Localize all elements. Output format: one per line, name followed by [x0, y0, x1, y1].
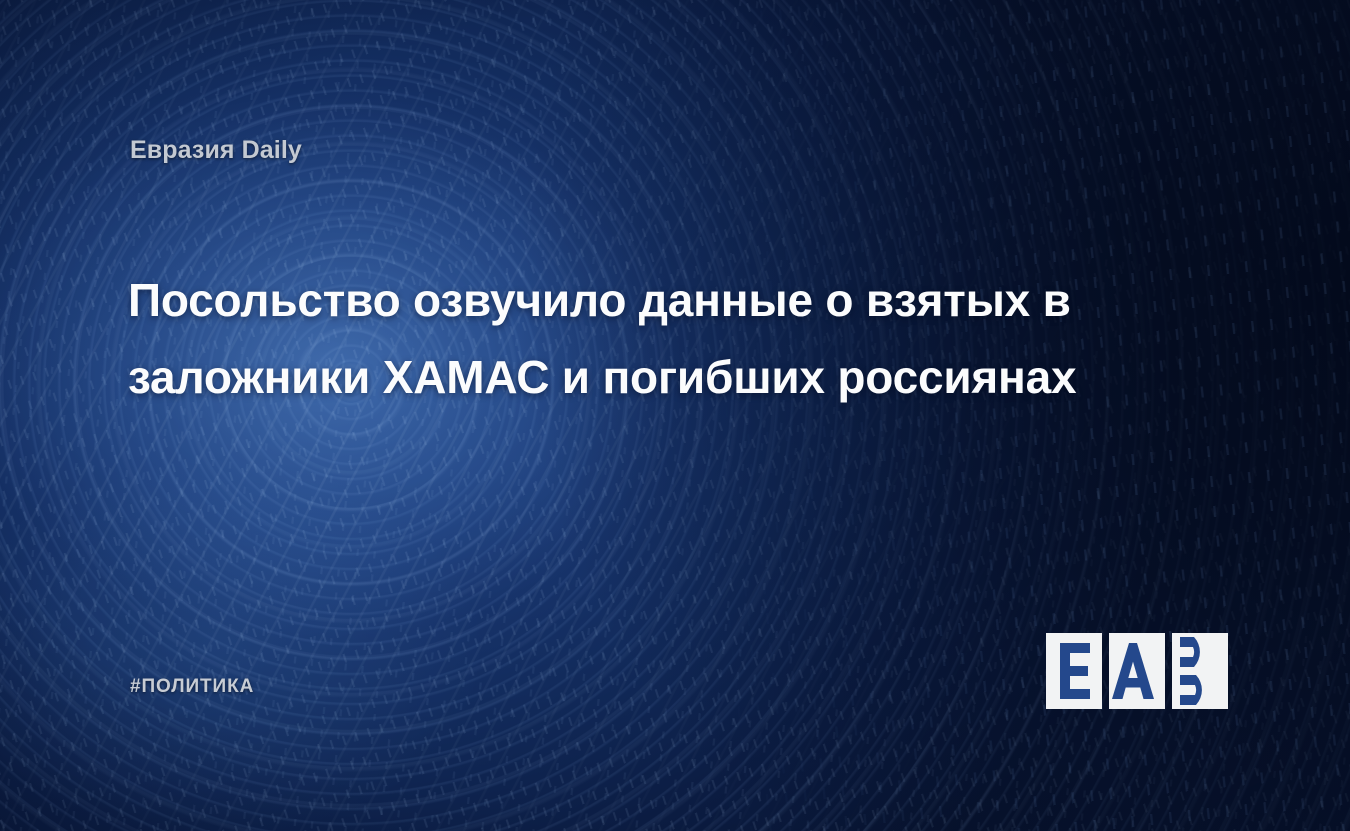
- eadaily-logo: [1046, 633, 1231, 709]
- site-name: Евразия Daily: [130, 136, 302, 165]
- card-content: Евразия Daily Посольство озвучило данные…: [0, 0, 1350, 831]
- headline: Посольство озвучило данные о взятых в за…: [128, 262, 1218, 417]
- eadaily-logo-icon: [1046, 633, 1231, 709]
- category-tag: #ПОЛИТИКА: [130, 676, 254, 698]
- news-card: Евразия Daily Посольство озвучило данные…: [0, 0, 1350, 831]
